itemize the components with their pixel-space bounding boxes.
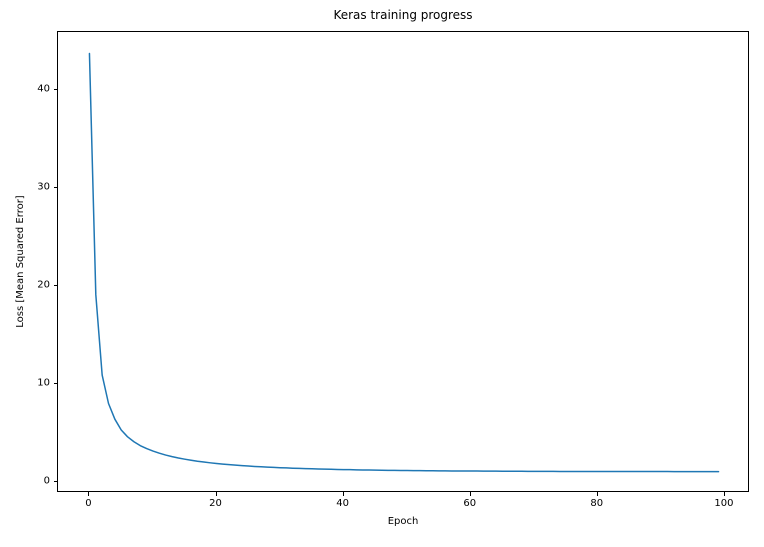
x-tick-mark: [343, 492, 344, 496]
y-axis-label: Loss [Mean Squared Error]: [14, 31, 28, 492]
x-tick-label: 0: [85, 498, 91, 509]
y-tick-mark: [54, 187, 58, 188]
y-tick-label: 20: [37, 279, 50, 290]
x-tick-label: 40: [336, 498, 349, 509]
y-tick-label: 10: [37, 377, 50, 388]
x-tick-label: 60: [463, 498, 476, 509]
y-tick-label: 0: [44, 475, 50, 486]
figure-canvas: Keras training progress 020406080100 010…: [0, 0, 764, 547]
x-tick-label: 80: [590, 498, 603, 509]
x-tick-label: 20: [209, 498, 222, 509]
x-tick-mark: [470, 492, 471, 496]
x-tick-mark: [216, 492, 217, 496]
y-tick-mark: [54, 481, 58, 482]
x-axis-label: Epoch: [57, 516, 749, 528]
y-tick-mark: [54, 383, 58, 384]
x-tick-label: 100: [714, 498, 733, 509]
loss-line-series: [89, 54, 718, 472]
y-tick-label: 40: [37, 83, 50, 94]
x-tick-mark: [724, 492, 725, 496]
plot-area: [57, 31, 749, 492]
chart-title: Keras training progress: [57, 8, 749, 22]
x-tick-mark: [88, 492, 89, 496]
y-tick-mark: [54, 89, 58, 90]
y-tick-label: 30: [37, 181, 50, 192]
y-tick-mark: [54, 285, 58, 286]
x-tick-mark: [597, 492, 598, 496]
loss-curve-svg: [58, 32, 750, 493]
